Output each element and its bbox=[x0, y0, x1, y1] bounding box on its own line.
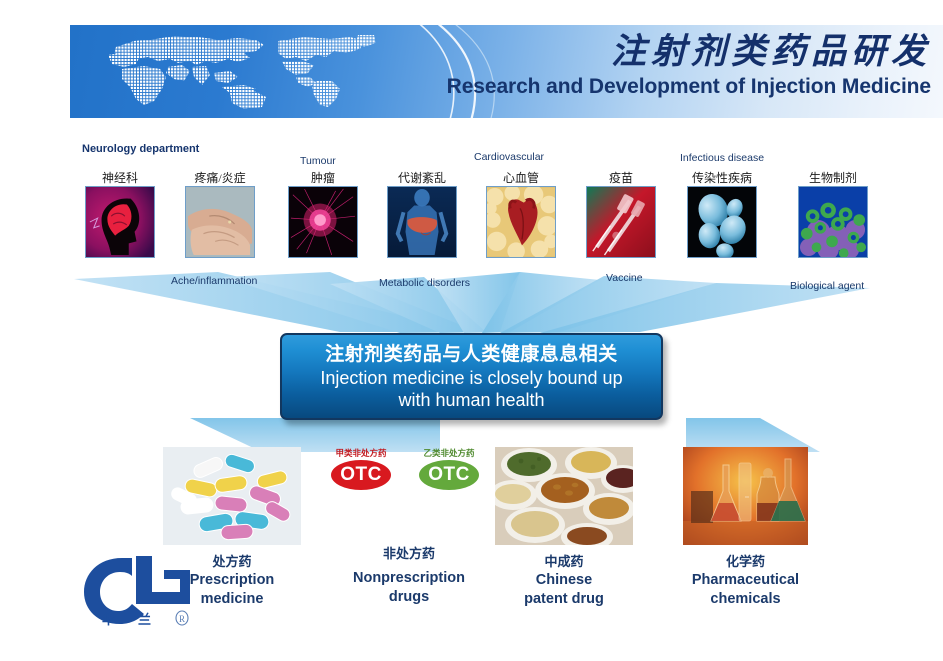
bottom-item-label-en-1: Pharmaceutical bbox=[683, 571, 808, 590]
top-item-label-cn: 神经科 bbox=[77, 170, 163, 186]
top-item-cardiovascular[interactable]: 心血管 bbox=[478, 170, 564, 258]
otc-label-cn-green: 乙类非处方药 bbox=[414, 448, 484, 459]
herbs-bowls-image bbox=[495, 447, 633, 545]
section-label-cardiovascular: Cardiovascular bbox=[474, 151, 544, 163]
under-label-ache-inflammation: Ache/inflammation bbox=[171, 275, 257, 287]
top-item-label-cn: 疼痛/炎症 bbox=[177, 170, 263, 186]
bottom-item-label-en-2: drugs bbox=[340, 588, 478, 607]
section-label-tumour: Tumour bbox=[300, 155, 336, 167]
top-item-vaccine[interactable]: 疫苗 bbox=[578, 170, 664, 258]
bottom-item-label-cn: 化学药 bbox=[683, 553, 808, 571]
top-item-label-cn: 肿瘤 bbox=[280, 170, 366, 186]
registered-mark-icon: R bbox=[176, 611, 188, 625]
brain-scan-image bbox=[85, 186, 155, 258]
center-box-line-en-1: Injection medicine is closely bound up bbox=[320, 367, 622, 389]
slide-canvas: 注射剂类药品研发 Research and Development of Inj… bbox=[0, 0, 943, 661]
header-titles: 注射剂类药品研发 Research and Development of Inj… bbox=[447, 29, 931, 100]
svg-text:兰: 兰 bbox=[138, 612, 151, 627]
bottom-item-label-en-2: patent drug bbox=[495, 590, 633, 609]
top-item-tumour[interactable]: 肿瘤 bbox=[280, 170, 366, 258]
vaccine-syringe-image bbox=[586, 186, 656, 258]
under-label-vaccine: Vaccine bbox=[606, 272, 643, 284]
bottom-item-chinese-patent-drug[interactable]: 中成药 Chinese patent drug bbox=[495, 447, 633, 609]
header-title-en: Research and Development of Injection Me… bbox=[447, 74, 931, 100]
bottom-item-label-cn: 非处方药 bbox=[340, 545, 478, 563]
top-item-label-cn: 生物制剂 bbox=[790, 170, 876, 186]
bottom-item-pharmaceutical-chemicals[interactable]: 化学药 Pharmaceutical chemicals bbox=[683, 447, 808, 609]
otc-logo-green: 乙类非处方药 OTC bbox=[414, 448, 484, 490]
top-item-neurology[interactable]: 神经科 bbox=[77, 170, 163, 258]
center-box-line-cn: 注射剂类药品与人类健康息息相关 bbox=[325, 343, 618, 367]
bacteria-image bbox=[687, 186, 757, 258]
hands-arthritis-image bbox=[185, 186, 255, 258]
section-label-infectious-disease: Infectious disease bbox=[680, 152, 764, 164]
bottom-item-label-en-1: Chinese bbox=[495, 571, 633, 590]
under-label-metabolic-disorders: Metabolic disorders bbox=[379, 277, 470, 289]
section-label-neurology: Neurology department bbox=[82, 143, 199, 155]
bottom-item-nonprescription-drugs[interactable]: 非处方药 Nonprescription drugs bbox=[340, 545, 478, 607]
otc-logo-red: 甲类非处方药 OTC bbox=[326, 448, 396, 490]
header-banner: 注射剂类药品研发 Research and Development of Inj… bbox=[70, 25, 943, 118]
top-item-label-cn: 疫苗 bbox=[578, 170, 664, 186]
top-item-label-cn: 心血管 bbox=[478, 170, 564, 186]
under-label-biological-agent: Biological agent bbox=[790, 280, 864, 292]
top-item-biological-agent[interactable]: 生物制剂 bbox=[790, 170, 876, 258]
otc-badge-red: OTC bbox=[331, 460, 391, 490]
heart-anatomy-image bbox=[486, 186, 556, 258]
otc-label-cn-red: 甲类非处方药 bbox=[326, 448, 396, 459]
top-item-metabolic-disorders[interactable]: 代谢紊乱 bbox=[379, 170, 465, 258]
header-title-cn: 注射剂类药品研发 bbox=[447, 29, 931, 74]
hualan-biological-logo[interactable]: 华 兰 R bbox=[78, 552, 203, 630]
bottom-item-label-en-2: chemicals bbox=[683, 590, 808, 609]
colorful-pills-image bbox=[163, 447, 301, 545]
tumour-cells-image bbox=[288, 186, 358, 258]
otc-badge-green: OTC bbox=[419, 460, 479, 490]
top-item-ache-inflammation[interactable]: 疼痛/炎症 bbox=[177, 170, 263, 258]
otc-logos: 甲类非处方药 OTC 乙类非处方药 OTC bbox=[326, 448, 486, 503]
CL-monogram-icon bbox=[84, 556, 190, 624]
top-item-infectious-disease[interactable]: 传染性疾病 bbox=[679, 170, 765, 258]
center-box-line-en-2: with human health bbox=[398, 389, 544, 411]
virus-cells-image bbox=[798, 186, 868, 258]
svg-text:R: R bbox=[179, 614, 185, 624]
liver-anatomy-image bbox=[387, 186, 457, 258]
top-item-label-cn: 代谢紊乱 bbox=[379, 170, 465, 186]
bottom-item-label-cn: 中成药 bbox=[495, 553, 633, 571]
bottom-item-label-en-1: Nonprescription bbox=[340, 569, 478, 588]
top-item-label-cn: 传染性疾病 bbox=[679, 170, 765, 186]
svg-text:华: 华 bbox=[102, 612, 115, 627]
center-statement-box[interactable]: 注射剂类药品与人类健康息息相关 Injection medicine is cl… bbox=[280, 333, 663, 420]
lab-flasks-image bbox=[683, 447, 808, 545]
